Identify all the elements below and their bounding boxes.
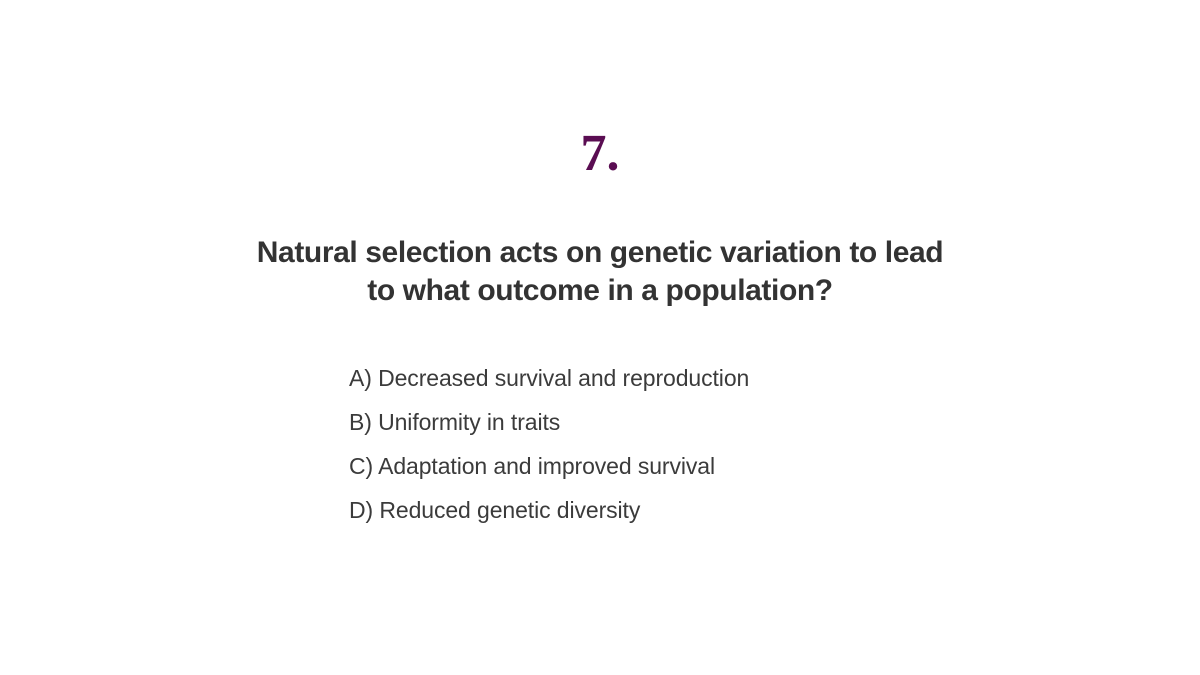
answer-options-list: A) Decreased survival and reproduction B… [349,356,1049,532]
question-number: 7. [0,128,1200,180]
answer-option-c[interactable]: C) Adaptation and improved survival [349,444,1049,488]
answer-option-d[interactable]: D) Reduced genetic diversity [349,488,1049,532]
answer-option-b[interactable]: B) Uniformity in traits [349,400,1049,444]
answer-option-d-letter: D) [349,497,373,523]
answer-option-d-label: Reduced genetic diversity [379,497,640,523]
answer-option-a-label: Decreased survival and reproduction [378,365,749,391]
question-prompt: Natural selection acts on genetic variat… [150,234,1050,310]
answer-option-b-label: Uniformity in traits [378,409,560,435]
question-line-1: Natural selection acts on genetic variat… [257,236,943,269]
question-line-2: to what outcome in a population? [367,274,833,307]
answer-option-c-letter: C) [349,453,373,479]
answer-option-c-label: Adaptation and improved survival [378,453,715,479]
answer-option-a-letter: A) [349,365,372,391]
answer-option-a[interactable]: A) Decreased survival and reproduction [349,356,1049,400]
quiz-slide: 7. Natural selection acts on genetic var… [0,0,1200,675]
answer-option-b-letter: B) [349,409,372,435]
